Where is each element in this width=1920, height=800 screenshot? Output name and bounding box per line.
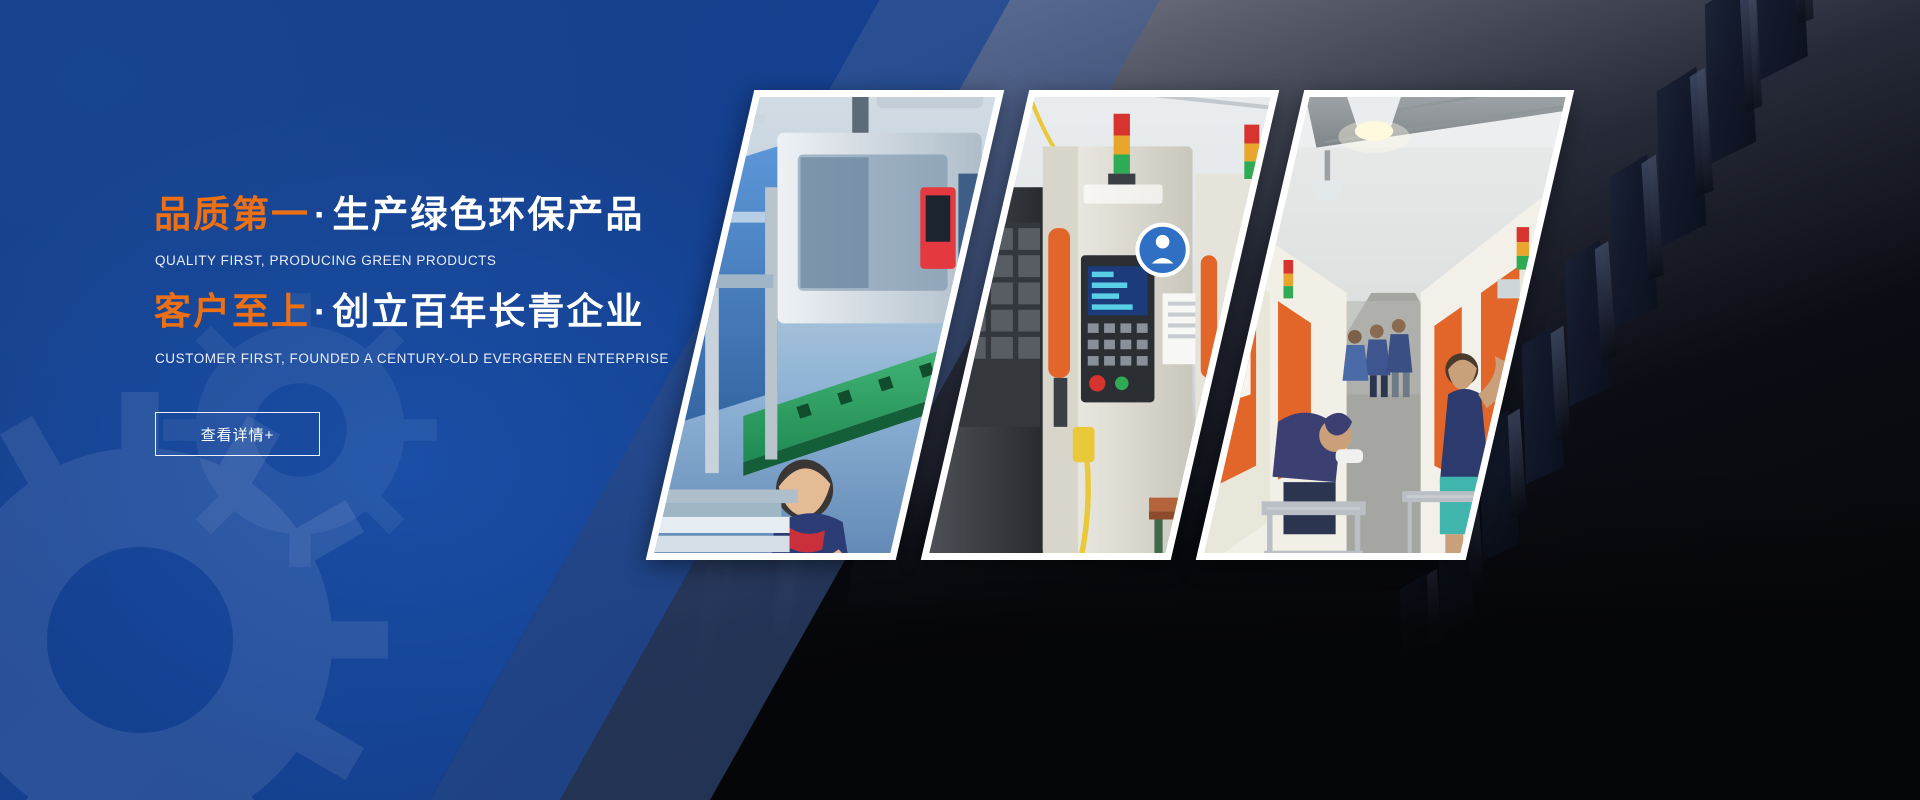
view-details-button[interactable]: 查看详情+	[155, 412, 320, 456]
headline-2-separator: ·	[310, 291, 332, 332]
hero-text-block: 品质第一·生产绿色环保产品 QUALITY FIRST, PRODUCING G…	[0, 0, 760, 800]
subtitle-2: CUSTOMER FIRST, FOUNDED A CENTURY-OLD EV…	[155, 351, 669, 366]
headline-1-rest: 生产绿色环保产品	[332, 194, 644, 235]
headline-1: 品质第一·生产绿色环保产品	[154, 196, 644, 233]
hero-banner: 品质第一·生产绿色环保产品 QUALITY FIRST, PRODUCING G…	[0, 0, 1920, 800]
headline-2: 客户至上·创立百年长青企业	[154, 293, 644, 330]
view-details-button-label: 查看详情+	[201, 424, 275, 445]
headline-2-accent: 客户至上	[154, 291, 310, 332]
headline-1-separator: ·	[310, 194, 332, 235]
headline-2-rest: 创立百年长青企业	[332, 291, 644, 332]
headline-1-accent: 品质第一	[154, 194, 310, 235]
subtitle-1: QUALITY FIRST, PRODUCING GREEN PRODUCTS	[155, 253, 497, 268]
